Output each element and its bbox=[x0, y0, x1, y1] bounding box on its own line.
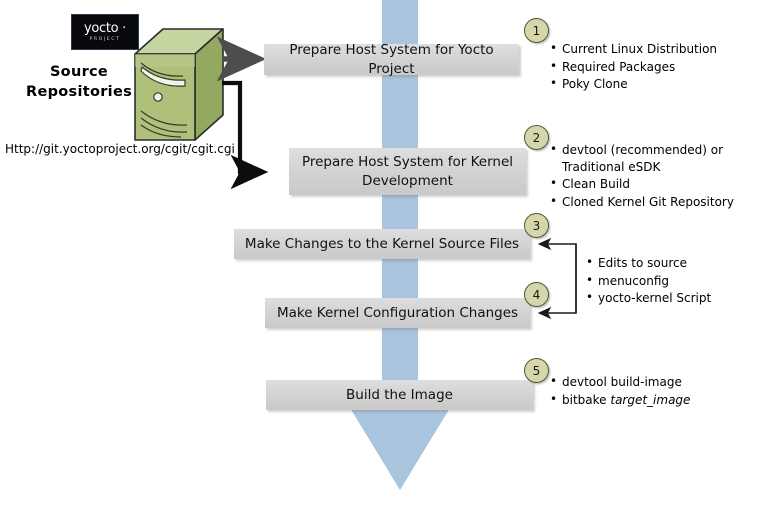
bullet-text: devtool (recommended) or bbox=[562, 143, 723, 157]
list-item: menuconfig bbox=[585, 273, 711, 290]
step-circle-3: 3 bbox=[524, 213, 549, 238]
process-box-step-3-label: Make Changes to the Kernel Source Files bbox=[245, 235, 519, 254]
bullet-text: Edits to source bbox=[598, 256, 687, 270]
bullets-step-1: Current Linux Distribution Required Pack… bbox=[549, 41, 717, 94]
list-item: Poky Clone bbox=[549, 76, 717, 93]
process-box-step-3[interactable]: Make Changes to the Kernel Source Files bbox=[234, 229, 530, 259]
bullet-text: menuconfig bbox=[598, 274, 669, 288]
list-item: Edits to source bbox=[585, 255, 711, 272]
bullets-step-5: devtool build-image bitbake target_image bbox=[549, 374, 690, 409]
bullet-text-continuation: Traditional eSDK bbox=[562, 159, 734, 176]
list-item: bitbake target_image bbox=[549, 392, 690, 409]
list-item: devtool build-image bbox=[549, 374, 690, 391]
step-circle-5-number: 5 bbox=[533, 364, 541, 378]
step-circle-1-number: 1 bbox=[533, 24, 541, 38]
step-circle-3-number: 3 bbox=[533, 219, 541, 233]
bullet-text: bitbake bbox=[562, 393, 610, 407]
process-box-step-2-line1: Prepare Host System for Kernel bbox=[302, 153, 513, 172]
list-item: yocto-kernel Script bbox=[585, 290, 711, 307]
diagram-canvas: yocto · PROJECT Source Repositories Http… bbox=[0, 0, 769, 517]
process-box-step-5[interactable]: Build the Image bbox=[266, 380, 533, 410]
step-circle-2: 2 bbox=[524, 125, 549, 150]
yocto-project-logo: yocto · PROJECT bbox=[71, 14, 139, 50]
step-circle-2-number: 2 bbox=[533, 131, 541, 145]
bullets-step-2: devtool (recommended) or Traditional eSD… bbox=[549, 142, 734, 211]
process-box-step-5-label: Build the Image bbox=[346, 386, 453, 405]
step-circle-4-number: 4 bbox=[533, 288, 541, 302]
source-repositories-label: Source Repositories bbox=[14, 62, 144, 102]
bullet-text-emphasis: target_image bbox=[610, 393, 690, 407]
bullet-text: Required Packages bbox=[562, 60, 675, 74]
list-item: Required Packages bbox=[549, 59, 717, 76]
server-icon bbox=[133, 27, 225, 142]
bullet-text: Poky Clone bbox=[562, 77, 628, 91]
list-item: devtool (recommended) or Traditional eSD… bbox=[549, 142, 734, 175]
bullet-text: Clean Build bbox=[562, 177, 630, 191]
logo-subtext: PROJECT bbox=[89, 36, 120, 43]
bullet-text: devtool build-image bbox=[562, 375, 682, 389]
process-box-step-4-label: Make Kernel Configuration Changes bbox=[277, 304, 518, 323]
process-box-step-4[interactable]: Make Kernel Configuration Changes bbox=[265, 298, 530, 328]
list-item: Cloned Kernel Git Repository bbox=[549, 194, 734, 211]
list-item: Current Linux Distribution bbox=[549, 41, 717, 58]
source-label-line2: Repositories bbox=[14, 82, 144, 102]
bullet-text: Cloned Kernel Git Repository bbox=[562, 195, 734, 209]
bullets-steps-3-and-4: Edits to source menuconfig yocto-kernel … bbox=[585, 255, 711, 308]
step-circle-1: 1 bbox=[524, 18, 549, 43]
source-label-line1: Source bbox=[14, 62, 144, 82]
list-item: Clean Build bbox=[549, 176, 734, 193]
process-box-step-2-line2: Development bbox=[362, 172, 453, 191]
process-box-step-1[interactable]: Prepare Host System for Yocto Project bbox=[264, 44, 519, 75]
bullet-text: yocto-kernel Script bbox=[598, 291, 711, 305]
process-box-step-1-label: Prepare Host System for Yocto Project bbox=[272, 41, 511, 79]
source-repository-url: Http://git.yoctoproject.org/cgit/cgit.cg… bbox=[5, 142, 235, 156]
logo-wordmark: yocto · bbox=[84, 22, 126, 35]
step-circle-4: 4 bbox=[524, 282, 549, 307]
bullet-text: Current Linux Distribution bbox=[562, 42, 717, 56]
process-box-step-2[interactable]: Prepare Host System for Kernel Developme… bbox=[289, 148, 526, 195]
step-circle-5: 5 bbox=[524, 358, 549, 383]
